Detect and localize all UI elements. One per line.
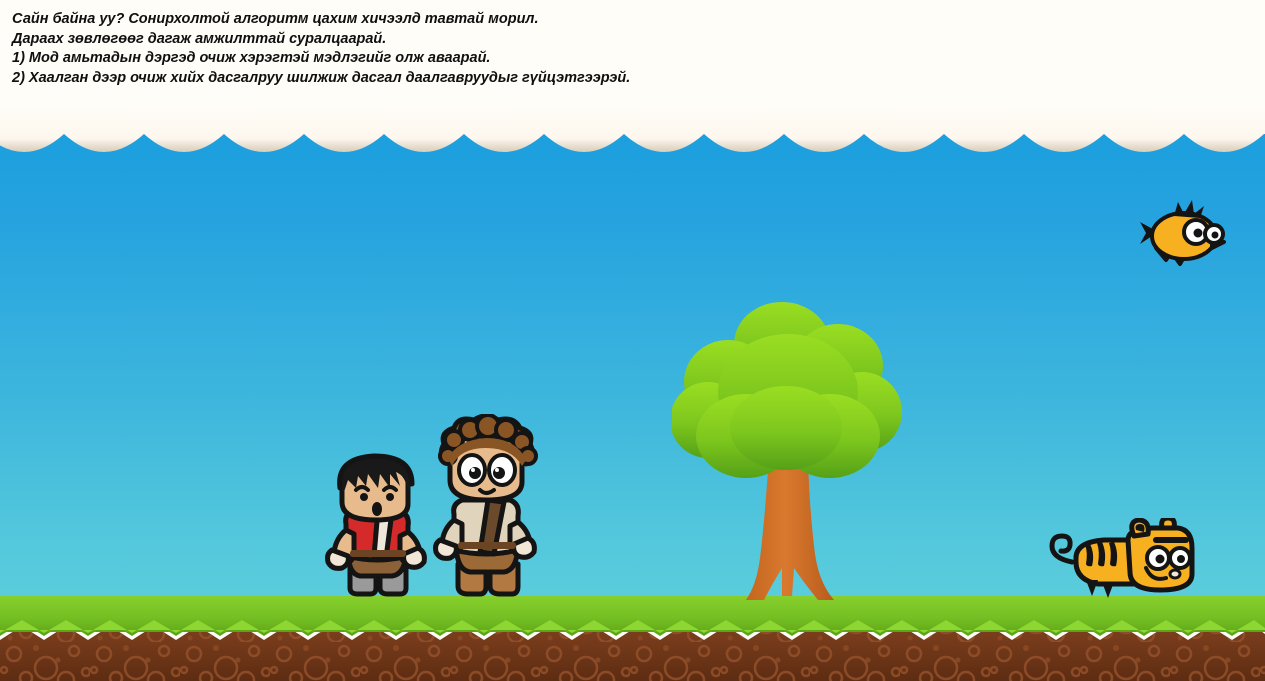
instruction-banner: Сайн байна уу? Сонирхолтой алгоритм цахи… [0,0,1265,112]
instruction-line-4: 2) Хаалган дээр очиж хийх дасгалруу шилж… [0,69,1265,89]
flying-bird[interactable] [1134,198,1230,278]
boy-curly-brown-hair[interactable] [428,414,546,600]
tiger-creature[interactable] [1042,518,1202,602]
instruction-line-1: Сайн байна уу? Сонирхолтой алгоритм цахи… [0,10,1265,30]
instruction-line-2: Дараах зөвлөгөөг дагаж амжилттай суралца… [0,30,1265,50]
instruction-line-3: 1) Мод амьтадын дэргэд очиж хэрэгтэй мэд… [0,49,1265,69]
cloud-band [0,104,1265,174]
game-scene: Сайн байна уу? Сонирхолтой алгоритм цахи… [0,0,1265,681]
green-tree [672,296,904,606]
ground-strip [0,596,1265,681]
boy-black-hair-red-shirt[interactable] [320,452,432,600]
